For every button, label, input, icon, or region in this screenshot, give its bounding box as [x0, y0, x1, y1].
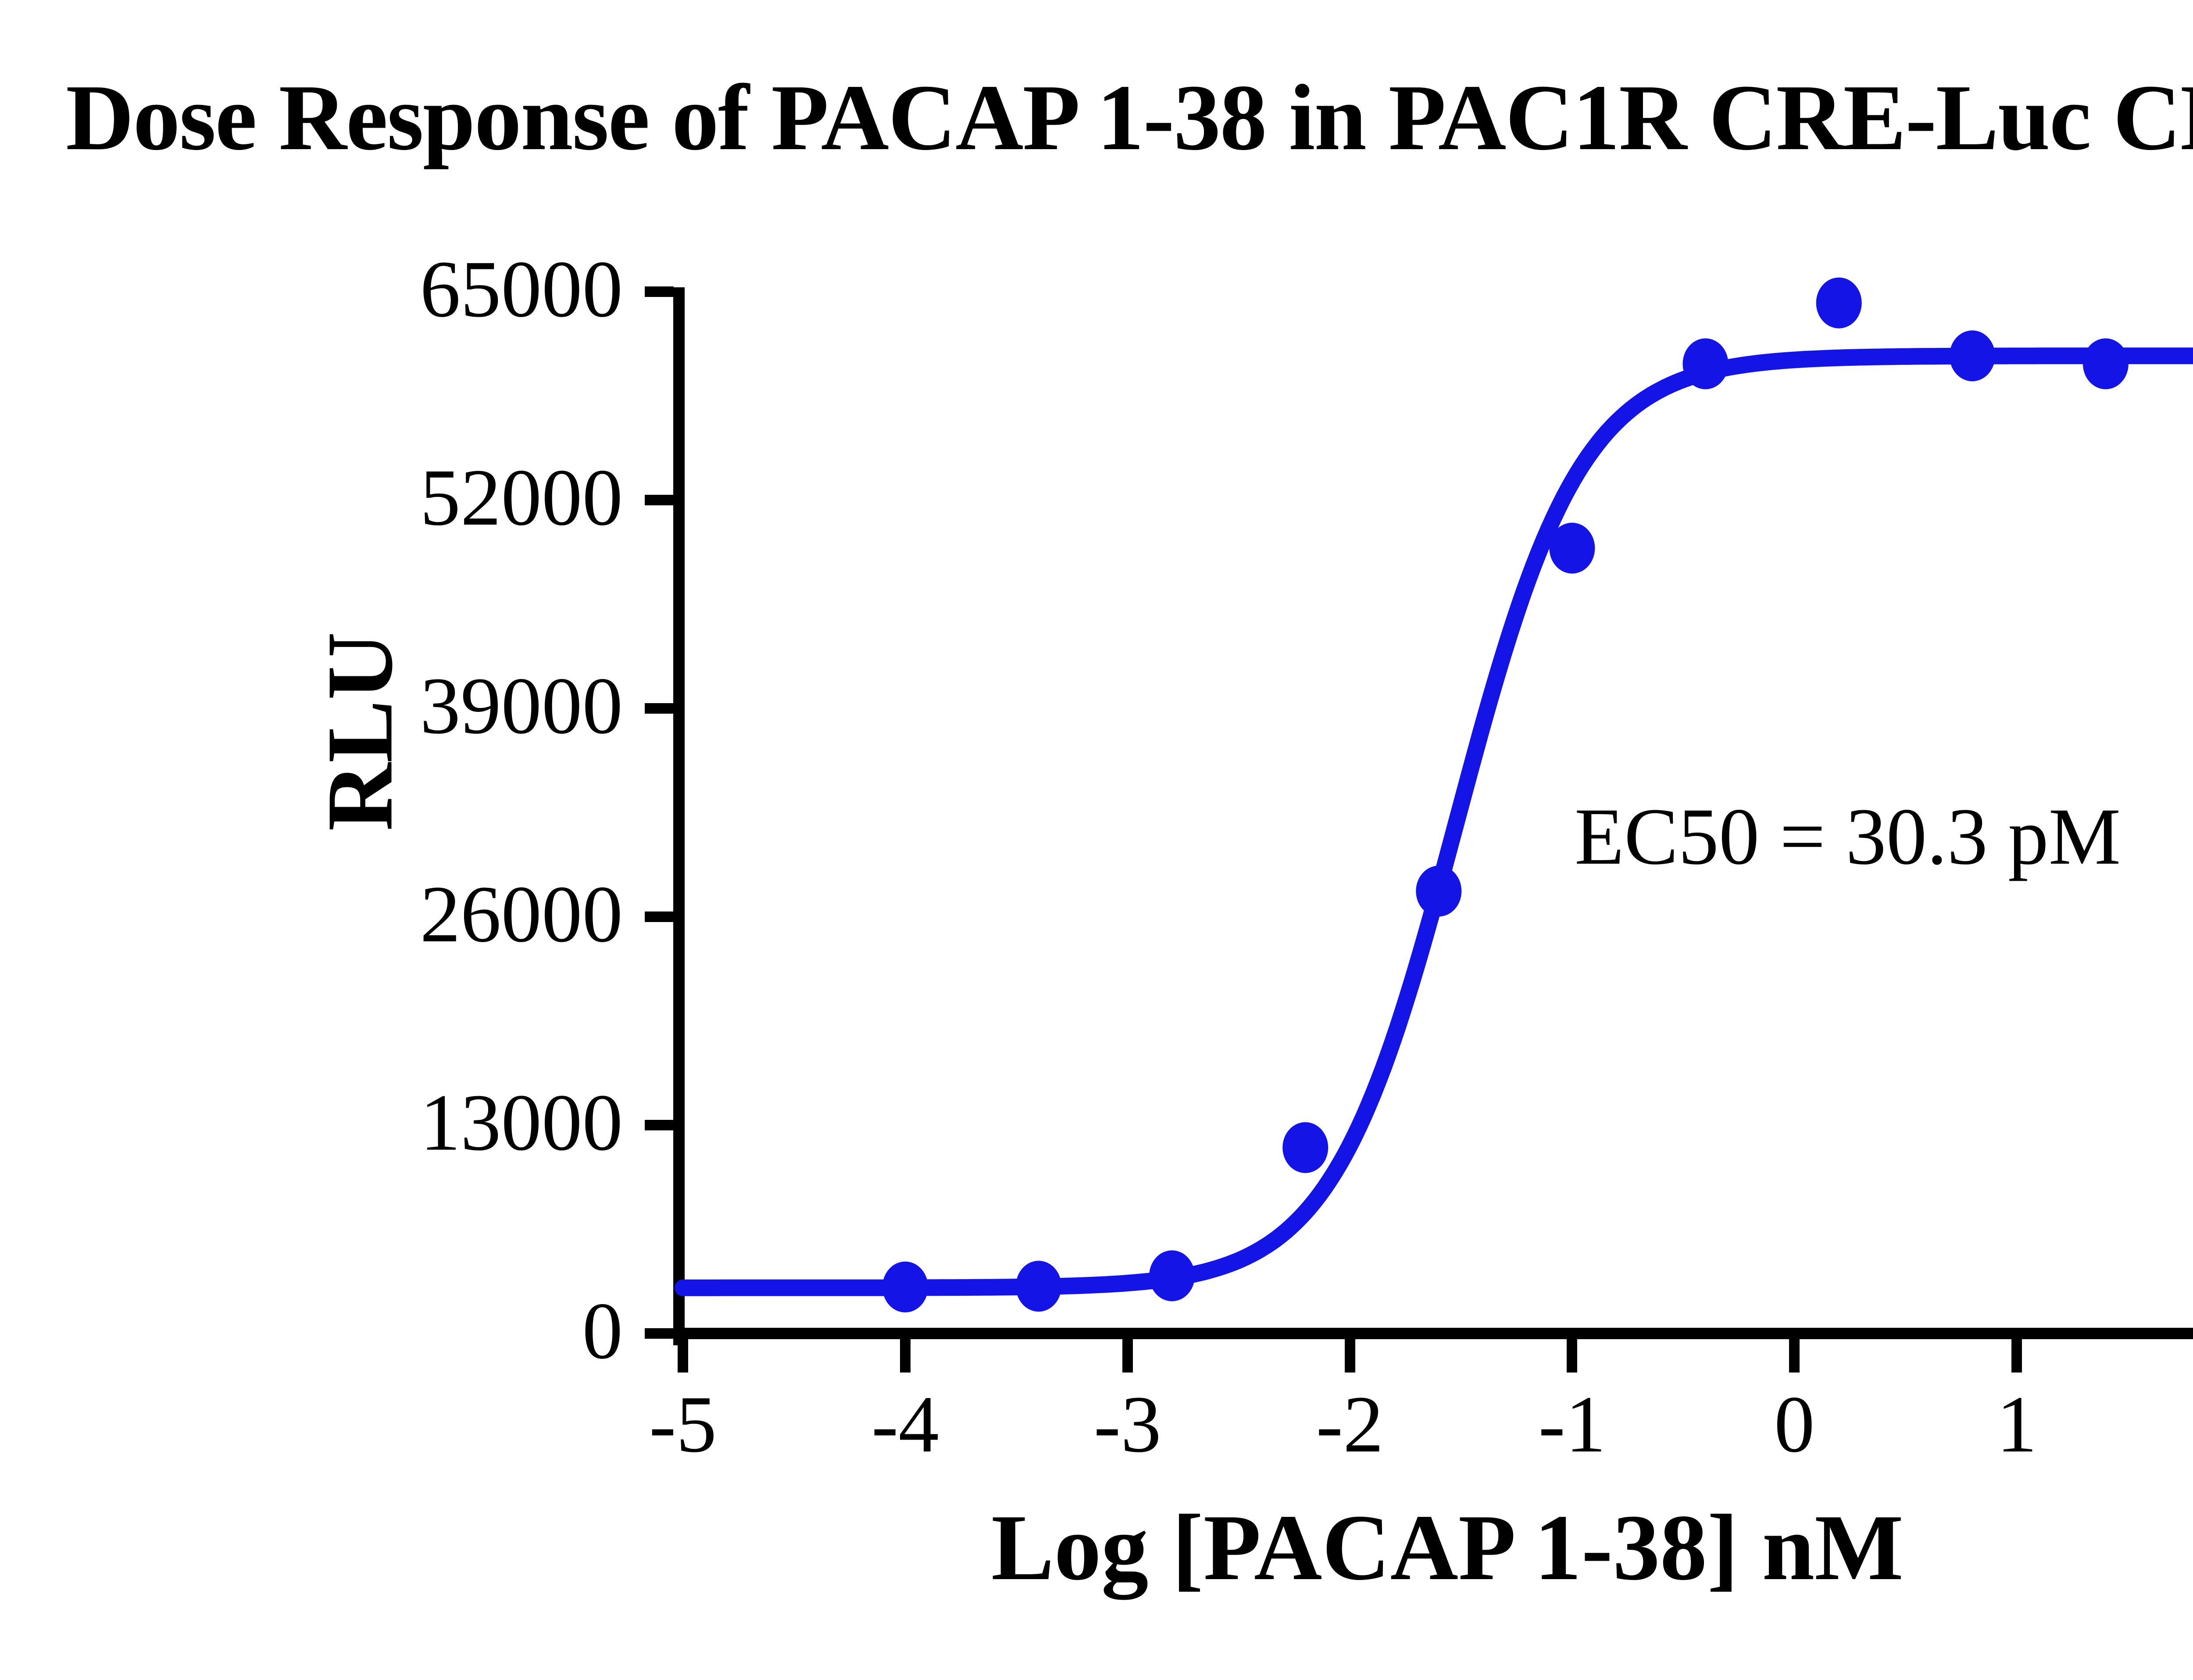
- y-axis-tick: [645, 495, 674, 505]
- data-point: [1683, 338, 1729, 389]
- x-axis-tick-label: -2: [1262, 1384, 1438, 1465]
- x-axis-tick-label: -5: [595, 1384, 771, 1465]
- x-axis-tick: [1789, 1338, 1800, 1373]
- y-axis-tick-label: 26000: [0, 874, 623, 955]
- x-axis-tick: [900, 1338, 911, 1373]
- data-point: [1416, 866, 1461, 917]
- x-axis-title: Log [PACAP 1-38] nM: [570, 1500, 2193, 1594]
- y-axis-tick: [645, 286, 674, 297]
- x-axis-tick: [1567, 1338, 1577, 1373]
- data-point: [1149, 1251, 1195, 1301]
- data-point: [1950, 330, 1995, 381]
- y-axis-tick-label: 0: [0, 1290, 623, 1372]
- x-axis-tick-label: 0: [1707, 1384, 1882, 1465]
- y-axis-tick: [645, 703, 674, 714]
- data-point: [2083, 338, 2129, 389]
- y-axis-tick-label: 13000: [0, 1082, 623, 1163]
- page-title: Dose Response of PACAP 1-38 in PAC1R CRE…: [66, 70, 2193, 164]
- y-axis-tick-label: 52000: [0, 457, 623, 538]
- y-axis-tick: [645, 911, 674, 922]
- data-point: [1816, 278, 1862, 329]
- chart-figure: Dose Response of PACAP 1-38 in PAC1R CRE…: [0, 0, 2193, 1680]
- x-axis-tick: [678, 1338, 688, 1373]
- x-axis-tick-label: -4: [818, 1384, 993, 1465]
- data-point: [1016, 1261, 1061, 1312]
- data-point: [1282, 1122, 1328, 1173]
- x-axis-tick-label: -1: [1484, 1384, 1660, 1465]
- y-axis-tick: [645, 1328, 674, 1339]
- y-axis-tick-label: 65000: [0, 249, 623, 330]
- y-axis-line: [673, 287, 685, 1345]
- x-axis-tick-label: -3: [1040, 1384, 1215, 1465]
- x-axis-tick-label: 2: [2151, 1384, 2193, 1465]
- data-point: [882, 1262, 928, 1312]
- x-axis-tick: [1122, 1338, 1133, 1373]
- x-axis-tick-label: 1: [1929, 1384, 2104, 1465]
- x-axis-line: [673, 1328, 2193, 1339]
- y-axis-tick: [645, 1120, 674, 1130]
- x-axis-tick: [2011, 1338, 2022, 1373]
- y-axis-title: RLU: [313, 578, 407, 885]
- data-point: [1549, 523, 1595, 574]
- ec50-annotation: EC50 = 30.3 pM: [1575, 796, 2121, 877]
- x-axis-tick: [1345, 1338, 1355, 1373]
